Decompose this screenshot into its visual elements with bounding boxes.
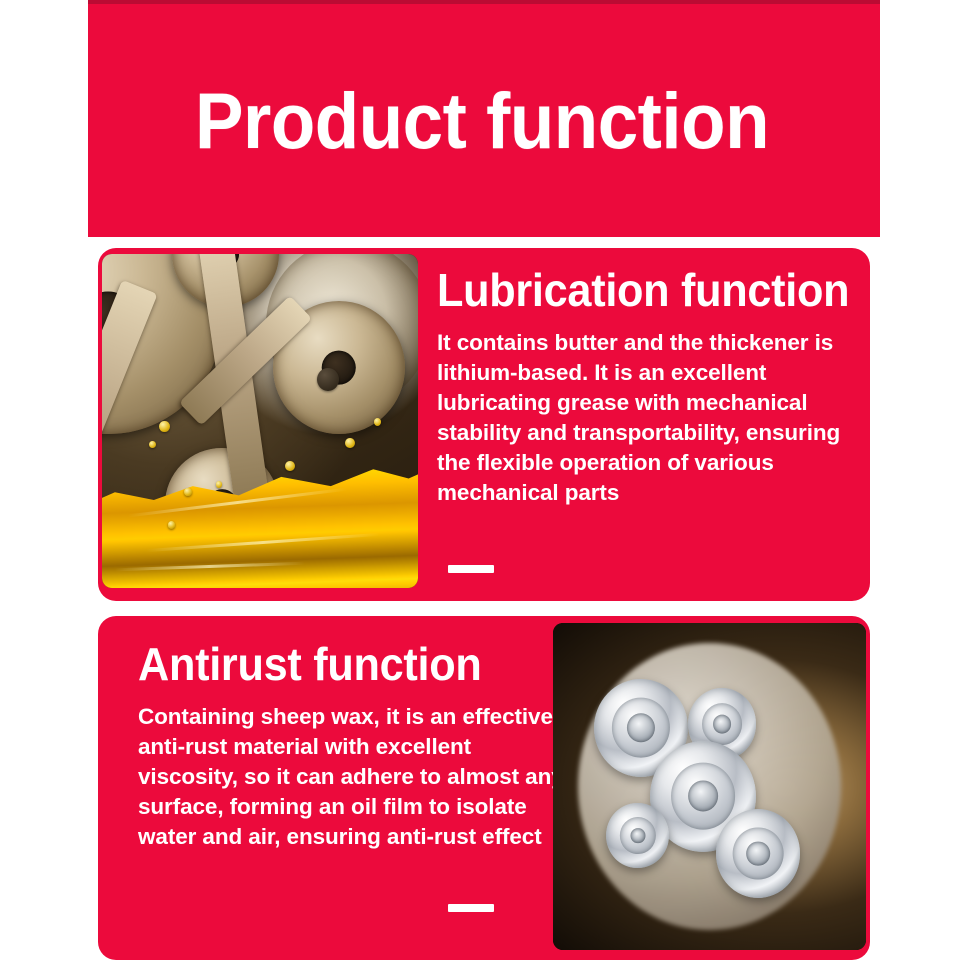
gear-icon	[716, 809, 801, 897]
oil-droplet	[159, 421, 170, 432]
gear-hub	[713, 715, 731, 734]
antirust-divider	[448, 904, 494, 912]
lubrication-divider	[448, 565, 494, 573]
feature-card-antirust: Antirust function Containing sheep wax, …	[98, 616, 870, 960]
chrome-gear-scene	[553, 623, 866, 950]
page-title: Product function	[195, 81, 769, 160]
lubrication-gear-photo	[102, 254, 418, 588]
antirust-gear-photo	[553, 623, 866, 950]
gear-icon	[606, 803, 669, 868]
antirust-paragraph: Containing sheep wax, it is an effective…	[138, 702, 568, 852]
oil-droplet	[345, 438, 355, 449]
oil-droplet	[216, 481, 222, 488]
feature-card-lubrication: Lubrication function It contains butter …	[98, 248, 870, 601]
oil-droplet	[149, 441, 156, 448]
brass-gear-scene	[102, 254, 418, 588]
gear-hub	[688, 781, 718, 812]
oil-droplet	[285, 461, 294, 471]
gear-hub	[630, 828, 645, 844]
lubrication-paragraph: It contains butter and the thickener is …	[437, 328, 862, 508]
oil-droplet	[168, 521, 175, 528]
oil-droplet	[374, 418, 382, 426]
page-title-banner: Product function	[88, 0, 880, 237]
antirust-heading: Antirust function	[138, 640, 542, 688]
gear-hub	[746, 841, 770, 866]
lubrication-heading: Lubrication function	[437, 266, 837, 314]
gear-pin	[317, 368, 339, 391]
antirust-card-body: Antirust function Containing sheep wax, …	[138, 640, 568, 852]
lubrication-card-body: Lubrication function It contains butter …	[437, 266, 862, 508]
